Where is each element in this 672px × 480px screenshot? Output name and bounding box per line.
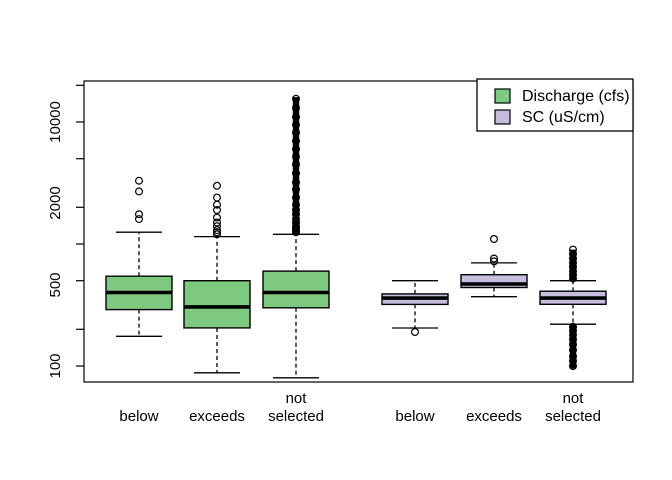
x-category-label-line2: selected [268, 408, 324, 425]
x-category-label: below [119, 408, 158, 425]
boxplot-sc-not-selected [540, 246, 606, 369]
x-category-label: below [395, 408, 434, 425]
boxplot-chart: 10000 2000 500 100 belowexceedsnotselect… [0, 0, 672, 480]
x-category-label-line1: not [286, 390, 308, 407]
outlier-point [491, 236, 498, 243]
outlier-point [136, 211, 143, 218]
y-tick-label-100: 100 [47, 353, 64, 378]
y-tick-label-500: 500 [47, 272, 64, 297]
boxplot-sc-below [382, 281, 448, 336]
box-iqr [263, 271, 329, 308]
plot-canvas: 10000 2000 500 100 belowexceedsnotselect… [0, 0, 672, 480]
x-category-label: exceeds [466, 408, 522, 425]
boxplot-series-layer [106, 95, 606, 377]
box-iqr [184, 281, 250, 328]
y-tick-label-10000: 10000 [47, 101, 64, 143]
x-category-label: exceeds [189, 408, 245, 425]
outlier-point [214, 214, 221, 221]
y-axis-ticks [76, 85, 84, 366]
x-axis-category-labels: belowexceedsnotselectedbelowexceedsnotse… [119, 390, 601, 425]
boxplot-discharge-not-selected [263, 95, 329, 377]
outlier-point [136, 177, 143, 184]
outlier-point [136, 188, 143, 195]
x-category-label-line2: selected [545, 408, 601, 425]
legend-swatch-discharge [495, 89, 510, 103]
outlier-point [412, 329, 419, 336]
boxplot-discharge-below [106, 177, 172, 336]
legend-label-discharge: Discharge (cfs) [522, 88, 630, 105]
outlier-point [214, 182, 221, 189]
y-tick-label-2000: 2000 [47, 186, 64, 219]
x-category-label-line1: not [563, 390, 585, 407]
boxplot-sc-exceeds [461, 236, 527, 297]
boxplot-discharge-exceeds [184, 182, 250, 372]
outlier-point [214, 194, 221, 201]
legend-swatch-sc [495, 110, 510, 124]
y-axis-tick-labels: 10000 2000 500 100 [47, 101, 64, 378]
legend-label-sc: SC (uS/cm) [522, 109, 605, 126]
legend: Discharge (cfs) SC (uS/cm) [477, 79, 633, 131]
